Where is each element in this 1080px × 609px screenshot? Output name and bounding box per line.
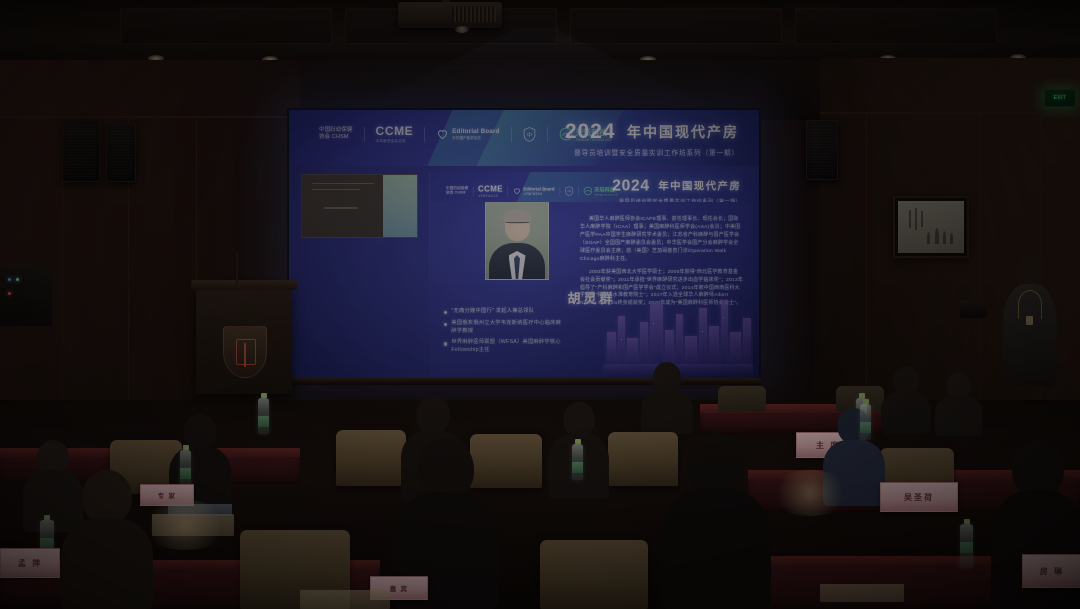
logo-editorial-board: Editorial Board 中华围产医学杂志	[436, 128, 499, 140]
person-head	[687, 432, 745, 496]
bullet-icon	[444, 342, 447, 345]
svg-text:中: 中	[526, 130, 531, 138]
pip-line	[324, 207, 358, 209]
logo-editorial-board: Editorial Board 中华围产医学杂志	[513, 187, 555, 195]
handout-paper	[300, 590, 390, 609]
bio-paragraph: 美国华人麻醉医师协会ICAPE理事、前任理事长、现任会长；国际华人麻醉学院（IC…	[580, 216, 743, 264]
artwork-stroke	[943, 231, 946, 244]
person-head	[418, 438, 474, 500]
projected-slide: 中国妇幼保健 协会 CHSM CCME 中华医学会杂志社	[289, 110, 759, 380]
ceiling-panel	[795, 8, 997, 44]
person-head	[37, 440, 69, 474]
list-item: "无痛分娩中国行" 发起人兼总领队	[444, 308, 564, 316]
credential-text: 世界麻醉医师联盟（WFSA）美国麻醉学核心Fellowship主任	[451, 339, 564, 355]
placard-bottom-left: 孟 萍	[0, 548, 60, 578]
ceiling-panel	[120, 8, 332, 44]
speaker-credentials-list: "无痛分娩中国行" 发起人兼总领队 美国俄亥俄州立大学韦克斯纳医疗中心临床麻醉学…	[444, 308, 564, 359]
logo-editorial-sub: 中华围产医学杂志	[452, 136, 499, 140]
attendee	[640, 362, 694, 432]
chair	[718, 386, 766, 412]
logo-shield-emblem: 中	[565, 186, 574, 196]
projection-screen: 中国妇幼保健 协会 CHSM CCME 中华医学会杂志社	[287, 108, 761, 382]
water-bottle	[860, 404, 871, 440]
inner-slide-subtitle: 督导员培训暨安全质量实训工作坊系列（第一期）	[612, 197, 741, 202]
attendee	[934, 372, 984, 434]
person-torso	[881, 392, 931, 434]
person-torso	[61, 518, 153, 609]
crest-emblem-bar	[244, 343, 246, 367]
logo-chsm: 中国妇幼保健 协会 CHSM	[319, 127, 353, 141]
picture-in-picture-panel	[301, 174, 418, 238]
placard-label: 专 家	[158, 490, 176, 500]
placard-label: 房 琳	[1040, 566, 1064, 577]
exit-sign: EXIT	[1044, 89, 1076, 107]
attendee-foreground	[660, 432, 772, 609]
badge-icon	[1026, 316, 1033, 325]
slide-subtitle: 督导员培训暨安全质量实训工作坊系列（第一期）	[565, 147, 739, 157]
slide-year: 2024	[565, 120, 616, 144]
skyline-building	[618, 316, 625, 366]
handout-paper	[820, 584, 904, 602]
podium-top	[191, 280, 297, 290]
person-head	[653, 362, 681, 393]
logo-divider	[473, 186, 474, 196]
skyline-light	[621, 339, 622, 340]
slide-main-title: 年中国现代产房	[627, 122, 739, 142]
exit-sign-label: EXIT	[1054, 95, 1067, 101]
conference-room-scene: EXIT 中国妇幼保健 协会 CHSM	[0, 0, 1080, 609]
skyline-light	[653, 323, 654, 324]
logo-divider	[547, 127, 548, 142]
placard-label: 吴圣荷	[904, 492, 934, 503]
glasses-icon	[506, 222, 529, 229]
logo-ccme: CCME 中华医学会杂志社	[376, 124, 414, 144]
bottle-cap	[863, 399, 869, 404]
inner-slide-header: 中国妇幼保健 协会 CHSM CCME 中华医学会杂志社	[430, 172, 753, 202]
slide-header-band: 中国妇幼保健 协会 CHSM CCME 中华医学会杂志社	[289, 110, 759, 166]
wall-speaker-right	[806, 120, 838, 180]
skyline-building	[650, 304, 663, 366]
logo-divider	[511, 127, 512, 142]
artwork-stroke	[921, 211, 923, 227]
ambient-light	[770, 470, 850, 516]
shield-icon: 中	[523, 127, 536, 142]
bottle-cap	[964, 519, 970, 524]
pip-side-panel	[383, 175, 417, 237]
logo-ccme-mark: CCME	[376, 124, 414, 138]
av-status-led	[16, 278, 19, 281]
podium-microphone	[236, 252, 238, 288]
person-torso	[935, 396, 983, 436]
person-head	[893, 366, 919, 395]
skyline-building	[665, 330, 674, 366]
logo-editorial-mark: Editorial Board	[452, 128, 499, 136]
attendee	[880, 366, 932, 432]
shield-icon: 中	[565, 186, 574, 196]
projector-vents	[452, 6, 496, 22]
logo-divider	[508, 186, 509, 196]
heart-icon	[513, 187, 522, 195]
bottle-label	[860, 422, 871, 433]
svg-text:中: 中	[567, 188, 571, 193]
lanyard-icon	[1018, 290, 1042, 319]
credential-text: "无痛分娩中国行" 发起人兼总领队	[451, 308, 534, 316]
wall-trim	[820, 112, 1080, 114]
logo-ccme-sub: 中华医学会杂志社	[376, 139, 414, 144]
logo-chsm: 中国妇幼保健 协会 CHSM	[446, 187, 468, 196]
artwork-canvas	[898, 201, 964, 253]
wall-artwork-frame	[893, 196, 969, 258]
inner-slide-main-title: 年中国现代产房	[658, 178, 741, 193]
artwork-stroke	[950, 233, 953, 244]
bullet-icon	[444, 311, 447, 314]
bottle-cap	[44, 515, 50, 520]
credential-text: 美国俄亥俄州立大学韦克斯纳医疗中心临床麻醉学教授	[451, 320, 564, 336]
logo-divider	[364, 127, 365, 142]
bullet-icon	[444, 323, 447, 326]
logo-editorial-sub: 中华围产医学杂志	[523, 192, 554, 195]
placard-bottom-right: 房 琳	[1022, 554, 1080, 588]
speaker-grill	[810, 125, 834, 175]
wood-seam	[196, 118, 197, 288]
placard-right-b: 吴圣荷	[880, 482, 958, 512]
av-equipment-rack	[0, 268, 52, 326]
slide-title-block: 2024 年中国现代产房 督导员培训暨安全质量实训工作坊系列（第一期）	[565, 120, 739, 157]
av-status-led	[8, 278, 11, 281]
heart-icon	[436, 128, 449, 140]
inner-slide-title-block: 2024 年中国现代产房 督导员培训暨安全质量实训工作坊系列（第一期）	[612, 177, 741, 202]
logo-ccme: CCME 中华医学会杂志社	[478, 184, 503, 197]
bottle-cap	[859, 393, 865, 398]
person-head	[1017, 256, 1043, 286]
tiantan-circle-icon	[583, 186, 592, 195]
video-camera	[960, 300, 986, 318]
water-bottle	[572, 444, 583, 480]
ceiling-projector	[398, 2, 502, 28]
crest-emblem-icon	[236, 339, 256, 365]
projector-lens-icon	[455, 26, 469, 33]
logo-chsm-line1: 中国妇幼保健	[319, 127, 353, 134]
wood-seam	[866, 114, 867, 404]
bottle-label	[258, 416, 269, 427]
podium	[196, 286, 292, 394]
inner-slide: 中国妇幼保健 协会 CHSM CCME 中华医学会杂志社	[429, 172, 753, 376]
list-item: 美国俄亥俄州立大学韦克斯纳医疗中心临床麻醉学教授	[444, 320, 564, 336]
skyline-light	[702, 331, 703, 332]
bottle-cap	[261, 393, 267, 398]
inner-slide-year: 2024	[612, 177, 650, 195]
skyline-building	[730, 332, 741, 366]
speaker-grill	[66, 123, 96, 177]
skyline-building	[627, 338, 638, 366]
pip-line	[312, 189, 360, 190]
inner-sponsor-logo-row: 中国妇幼保健 协会 CHSM CCME 中华医学会杂志社	[446, 184, 618, 197]
speaker-grill	[110, 129, 132, 177]
person-head	[416, 396, 450, 434]
logo-chsm-line2: 协会 CHSM	[446, 191, 468, 195]
skyline-building	[743, 318, 751, 366]
person-head	[563, 402, 595, 437]
water-bottle	[180, 450, 191, 486]
logo-chsm-line2: 协会 CHSM	[319, 134, 353, 141]
skyline-building	[607, 332, 616, 366]
person-torso	[991, 490, 1080, 609]
bottle-cap	[575, 439, 581, 444]
water-bottle	[258, 398, 269, 434]
skyline-building	[709, 326, 719, 366]
logo-ccme-mark: CCME	[478, 184, 503, 193]
wall-speaker-left	[62, 118, 100, 182]
ambient-light	[140, 500, 230, 550]
skyline-building	[640, 322, 648, 366]
wall-trim	[0, 116, 300, 118]
placard-label: 孟 萍	[18, 558, 42, 569]
artwork-stroke	[909, 210, 911, 228]
artwork-stroke	[927, 232, 930, 244]
placard-label: 嘉 宾	[390, 583, 408, 593]
bottle-label	[572, 462, 583, 473]
speaker-portrait	[485, 202, 549, 280]
person-torso	[661, 488, 771, 609]
skyline-building	[699, 308, 707, 366]
logo-divider	[559, 186, 560, 196]
skyline-building	[721, 300, 728, 366]
attendee-foreground	[60, 470, 154, 609]
skyline-building	[676, 314, 683, 366]
bottle-label	[960, 542, 973, 553]
artwork-stroke	[935, 228, 939, 244]
water-bottle	[960, 524, 973, 568]
artwork-stroke	[915, 208, 917, 230]
chair	[540, 540, 648, 609]
logo-shield-emblem: 中	[523, 127, 536, 142]
av-status-led	[8, 292, 11, 295]
logo-divider	[578, 186, 579, 196]
person-torso	[641, 390, 693, 434]
wall-speaker-left-2	[106, 124, 136, 182]
ceiling-panel	[570, 8, 782, 44]
standing-attendee	[1002, 256, 1058, 386]
logo-divider	[424, 127, 425, 142]
bottle-label	[180, 468, 191, 479]
bottle-cap	[183, 445, 189, 450]
pip-line	[312, 183, 374, 184]
podium-crest	[223, 326, 267, 378]
logo-ccme-sub: 中华医学会杂志社	[478, 194, 503, 197]
list-item: 世界麻醉医师联盟（WFSA）美国麻醉学核心Fellowship主任	[444, 339, 564, 355]
skyline-light	[723, 317, 724, 318]
person-head	[82, 470, 132, 524]
person-head	[947, 372, 972, 399]
